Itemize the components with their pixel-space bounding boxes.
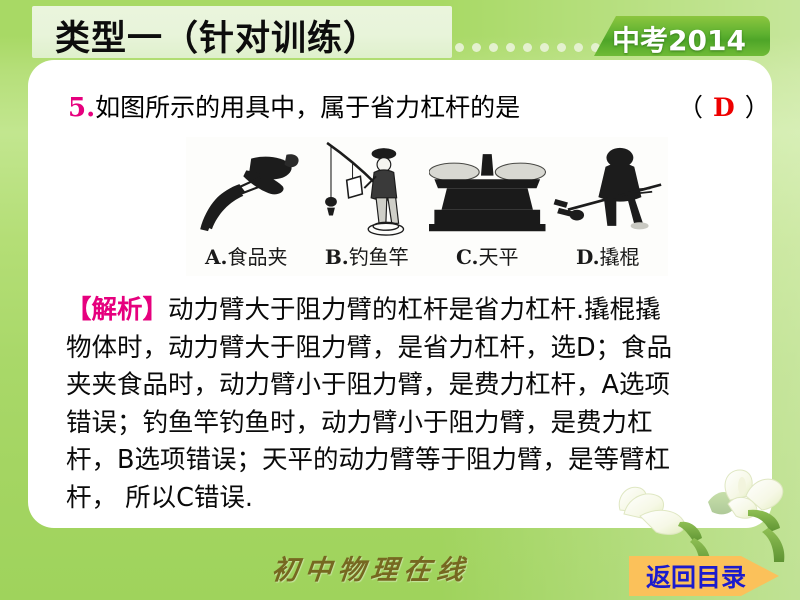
explanation-line-2: 物体时，动力臂大于阻力臂，是省力杠杆，选D；食品 [66, 330, 766, 368]
page-title: 类型一（针对训练） [55, 10, 379, 61]
answer-letter: D [703, 93, 745, 122]
option-art-cell-a [186, 137, 307, 241]
dot-icon [523, 43, 532, 52]
balance-scale-icon [429, 141, 546, 239]
option-art-cell-d [548, 137, 669, 241]
content-panel: 5.如图所示的用具中，属于省力杠杆的是 （D） [28, 60, 772, 528]
answer-bracket: （D） [678, 88, 770, 124]
dot-icon [540, 43, 549, 52]
explanation-line-4: 错误；钓鱼竿钓鱼时，动力臂小于阻力臂，是费力杠 [66, 405, 766, 443]
food-tongs-icon [188, 141, 305, 239]
options-label-row: A.食品夹 B.钓鱼竿 C.天平 D.撬棍 [186, 241, 668, 276]
dot-icon [574, 43, 583, 52]
option-label-b: B.钓鱼竿 [307, 241, 428, 276]
question-line: 5.如图所示的用具中，属于省力杠杆的是 （D） [68, 88, 758, 122]
dot-icon [506, 43, 515, 52]
option-name-c: 天平 [479, 245, 519, 269]
crowbar-icon [550, 141, 667, 239]
dot-icon [455, 43, 464, 52]
option-label-a: A.食品夹 [186, 241, 307, 276]
explanation-line-5: 杆，B选项错误；天平的动力臂等于阻力臂，是等臂杠 [66, 442, 766, 480]
explanation-tag: 【解析】 [66, 295, 168, 325]
dot-icon [472, 43, 481, 52]
bracket-right: ） [745, 93, 770, 122]
explanation-line-6: 杆， 所以C错误. [66, 480, 766, 518]
option-label-d: D.撬棍 [548, 241, 669, 276]
exam-ribbon-label: 中考2014 [612, 19, 746, 59]
options-artwork-row [186, 137, 668, 241]
question-text: 如图所示的用具中，属于省力杠杆的是 [95, 93, 520, 122]
slide-canvas: 类型一（针对训练） 中考2014 5.如图所示的用具中，属于省力杠杆的是 （D） [0, 0, 800, 600]
option-tag-a: A. [205, 245, 227, 269]
fishing-rod-icon [309, 141, 426, 239]
option-tag-c: C. [456, 245, 479, 269]
dot-icon [489, 43, 498, 52]
explanation-block: 【解析】动力臂大于阻力臂的杠杆是省力杠杆.撬棍撬 物体时，动力臂大于阻力臂，是省… [66, 292, 766, 517]
option-name-a: 食品夹 [227, 245, 287, 269]
option-tag-b: B. [325, 245, 349, 269]
explanation-line-3: 夹夹食品时，动力臂小于阻力臂，是费力杠杆，A选项 [66, 367, 766, 405]
option-art-cell-b [307, 137, 428, 241]
option-label-c: C.天平 [427, 241, 548, 276]
option-name-b: 钓鱼竿 [349, 245, 409, 269]
option-name-d: 撬棍 [600, 245, 640, 269]
site-watermark: 初中物理在线 [270, 548, 472, 587]
explanation-text-1: 动力臂大于阻力臂的杠杆是省力杠杆.撬棍撬 [168, 295, 661, 325]
header-dots-strip [455, 39, 605, 56]
option-tag-d: D. [576, 245, 600, 269]
question-number: 5. [68, 93, 95, 123]
options-figure: A.食品夹 B.钓鱼竿 C.天平 D.撬棍 [186, 137, 668, 276]
explanation-line-1: 【解析】动力臂大于阻力臂的杠杆是省力杠杆.撬棍撬 [66, 292, 766, 330]
option-art-cell-c [427, 137, 548, 241]
dot-icon [557, 43, 566, 52]
bracket-left: （ [678, 93, 703, 122]
return-to-contents-button[interactable] [629, 556, 779, 596]
